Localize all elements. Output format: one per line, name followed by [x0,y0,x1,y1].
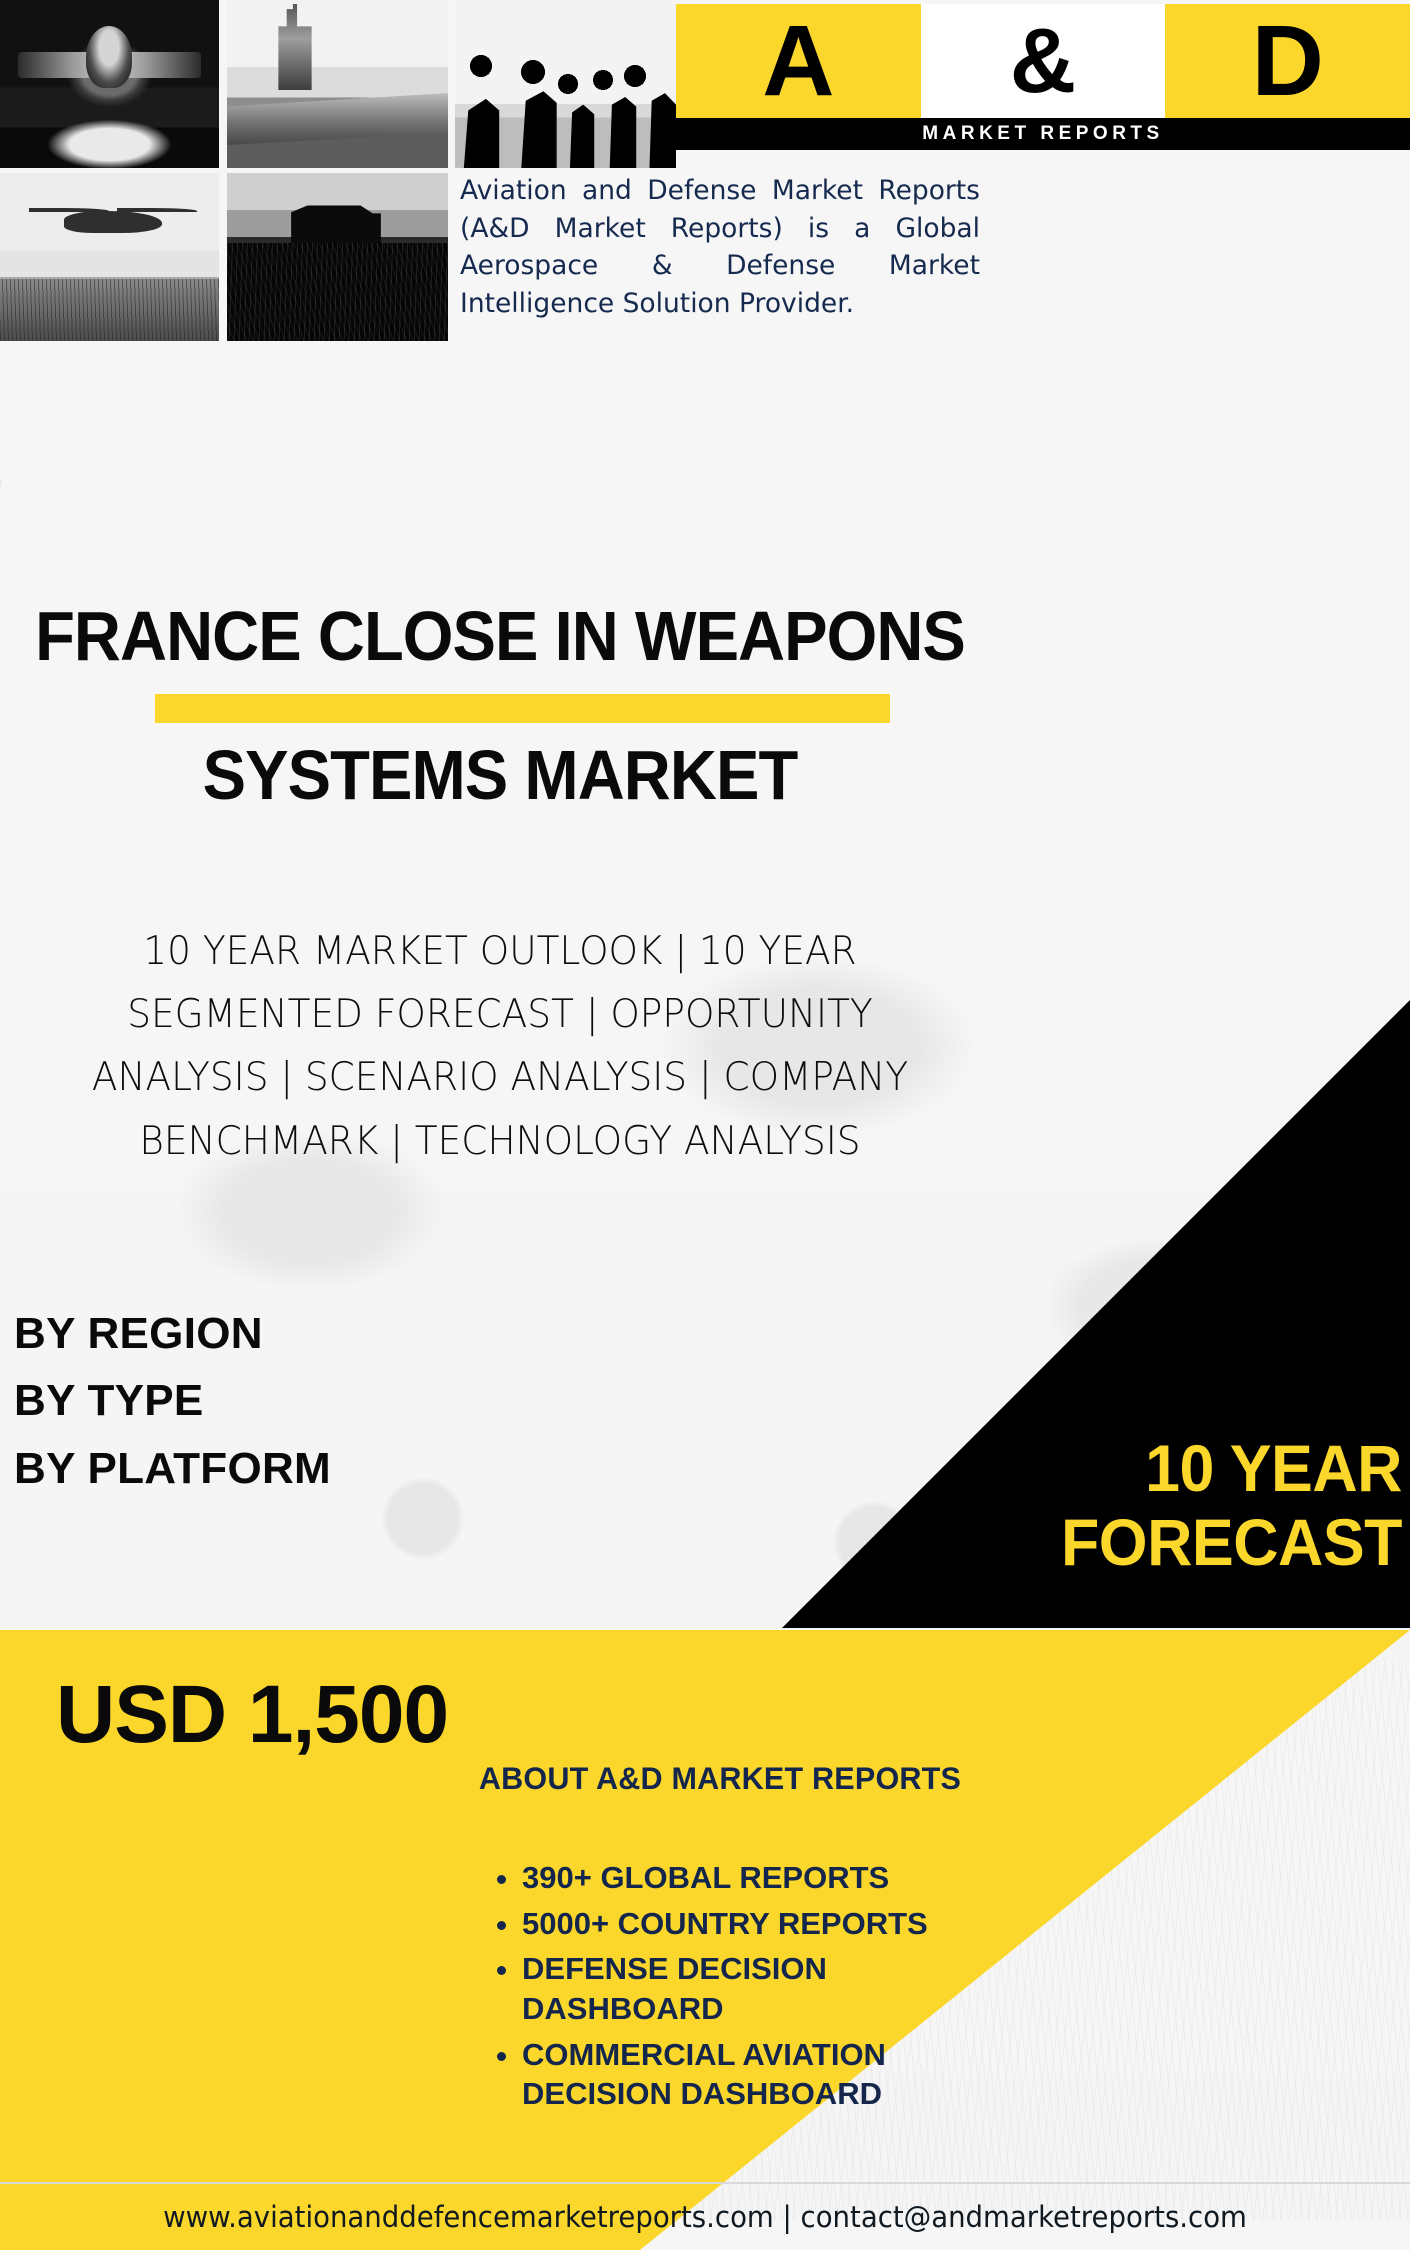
logo-letter-d: D [1165,4,1410,118]
forecast-badge: 10 YEAR FORECAST [870,1432,1402,1580]
about-section: ABOUT A&D MARKET REPORTS 390+ GLOBAL REP… [460,1760,980,2120]
aircraft-carrier-photo [227,0,448,168]
segment-item-type: BY TYPE [14,1367,331,1434]
logo-letters: A & D [676,4,1410,118]
logo-ampersand: & [921,4,1166,118]
price-label: USD 1,500 [56,1668,448,1762]
report-title: FRANCE CLOSE IN WEAPONS SYSTEMS MARKET [0,600,1000,812]
report-subtitle: 10 YEAR MARKET OUTLOOK | 10 YEAR SEGMENT… [47,920,953,1173]
brand-logo[interactable]: A & D MARKET REPORTS [676,0,1410,150]
segment-item-platform: BY PLATFORM [14,1435,331,1502]
segment-item-region: BY REGION [14,1300,331,1367]
about-bullet-aviation-dashboard: COMMERCIAL AVIATION DECISION DASHBOARD [522,2035,980,2114]
soldiers-silhouette-photo [455,0,676,168]
about-heading: ABOUT A&D MARKET REPORTS [468,1760,972,1797]
logo-tagline: MARKET REPORTS [676,118,1410,150]
company-intro-text: Aviation and Defense Market Reports (A&D… [460,172,980,323]
about-bullet-defense-dashboard: DEFENSE DECISION DASHBOARD [522,1949,980,2028]
about-underline [436,1806,976,1812]
logo-letter-a: A [676,4,921,118]
about-bullet-list: 390+ GLOBAL REPORTS 5000+ COUNTRY REPORT… [522,1858,980,2114]
about-bullet-global-reports: 390+ GLOBAL REPORTS [522,1858,980,1898]
segmentation-list: BY REGION BY TYPE BY PLATFORM [14,1300,331,1502]
fighter-jet-photo [0,0,219,168]
helicopter-photo [0,173,219,341]
forecast-badge-line-1: 10 YEAR [870,1432,1402,1506]
footer-contact[interactable]: www.aviationanddefencemarketreports.com … [35,2184,1375,2250]
forecast-badge-line-2: FORECAST [870,1506,1402,1580]
armoured-vehicle-photo [227,173,448,341]
poster-root: A & D MARKET REPORTS Aviation and Defens… [0,0,1410,2250]
about-bullet-country-reports: 5000+ COUNTRY REPORTS [522,1904,980,1944]
title-accent-bar [155,694,890,723]
report-title-line-1: FRANCE CLOSE IN WEAPONS [35,600,965,674]
report-title-line-2: SYSTEMS MARKET [35,739,965,813]
